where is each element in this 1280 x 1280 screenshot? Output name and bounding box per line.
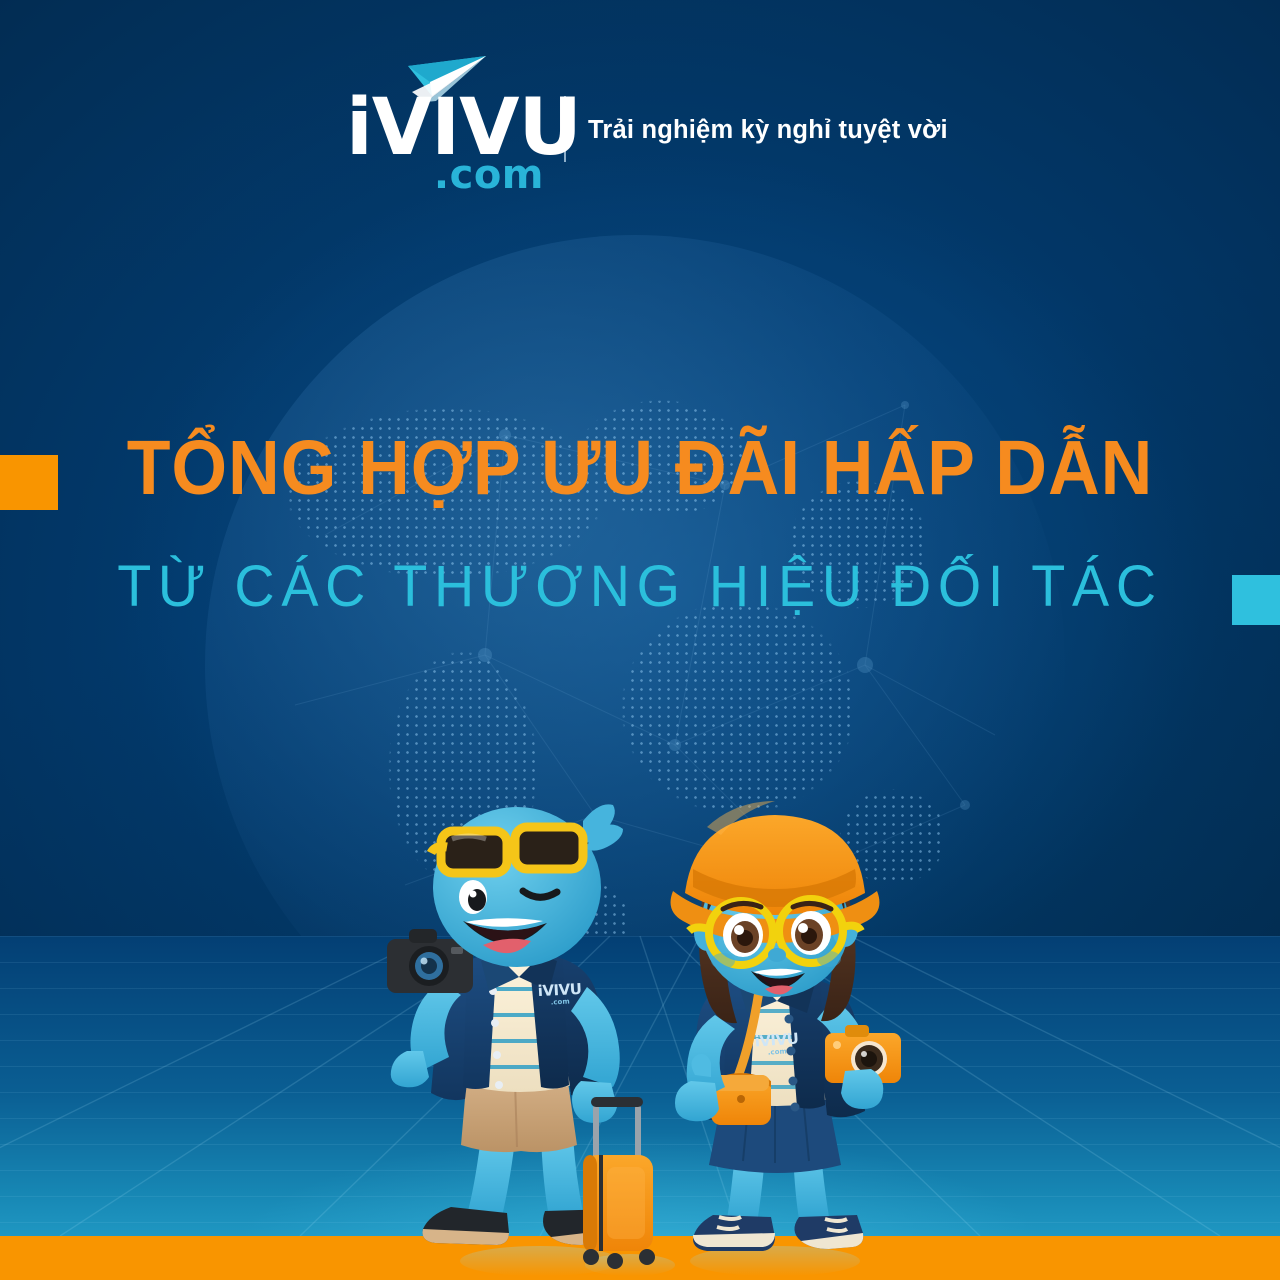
brand-logo[interactable]: iVIVU .com Trải nghiệm kỳ nghỉ tuyệt vời — [346, 52, 948, 184]
yellow-sunglasses — [431, 827, 583, 873]
female-traveler-mascot — [671, 801, 901, 1251]
orange-suitcase — [583, 1097, 655, 1269]
logo-mark: iVIVU .com — [346, 52, 542, 184]
brand-tagline: Trải nghiệm kỳ nghỉ tuyệt vời — [588, 116, 948, 145]
promo-banner: iVIVU .com Trải nghiệm kỳ nghỉ tuyệt vời… — [0, 0, 1280, 1280]
headline-title: TỔNG HỢP ƯU ĐÃI HẤP DẪN — [45, 424, 1235, 513]
headline-subtitle: TỪ CÁC THƯƠNG HIỆU ĐỐI TÁC — [26, 553, 1255, 620]
mascot-illustration: iVIVU .com iVIVU .com — [355, 775, 955, 1280]
mascot-svg — [355, 775, 955, 1280]
logo-domain: .com — [434, 152, 544, 198]
